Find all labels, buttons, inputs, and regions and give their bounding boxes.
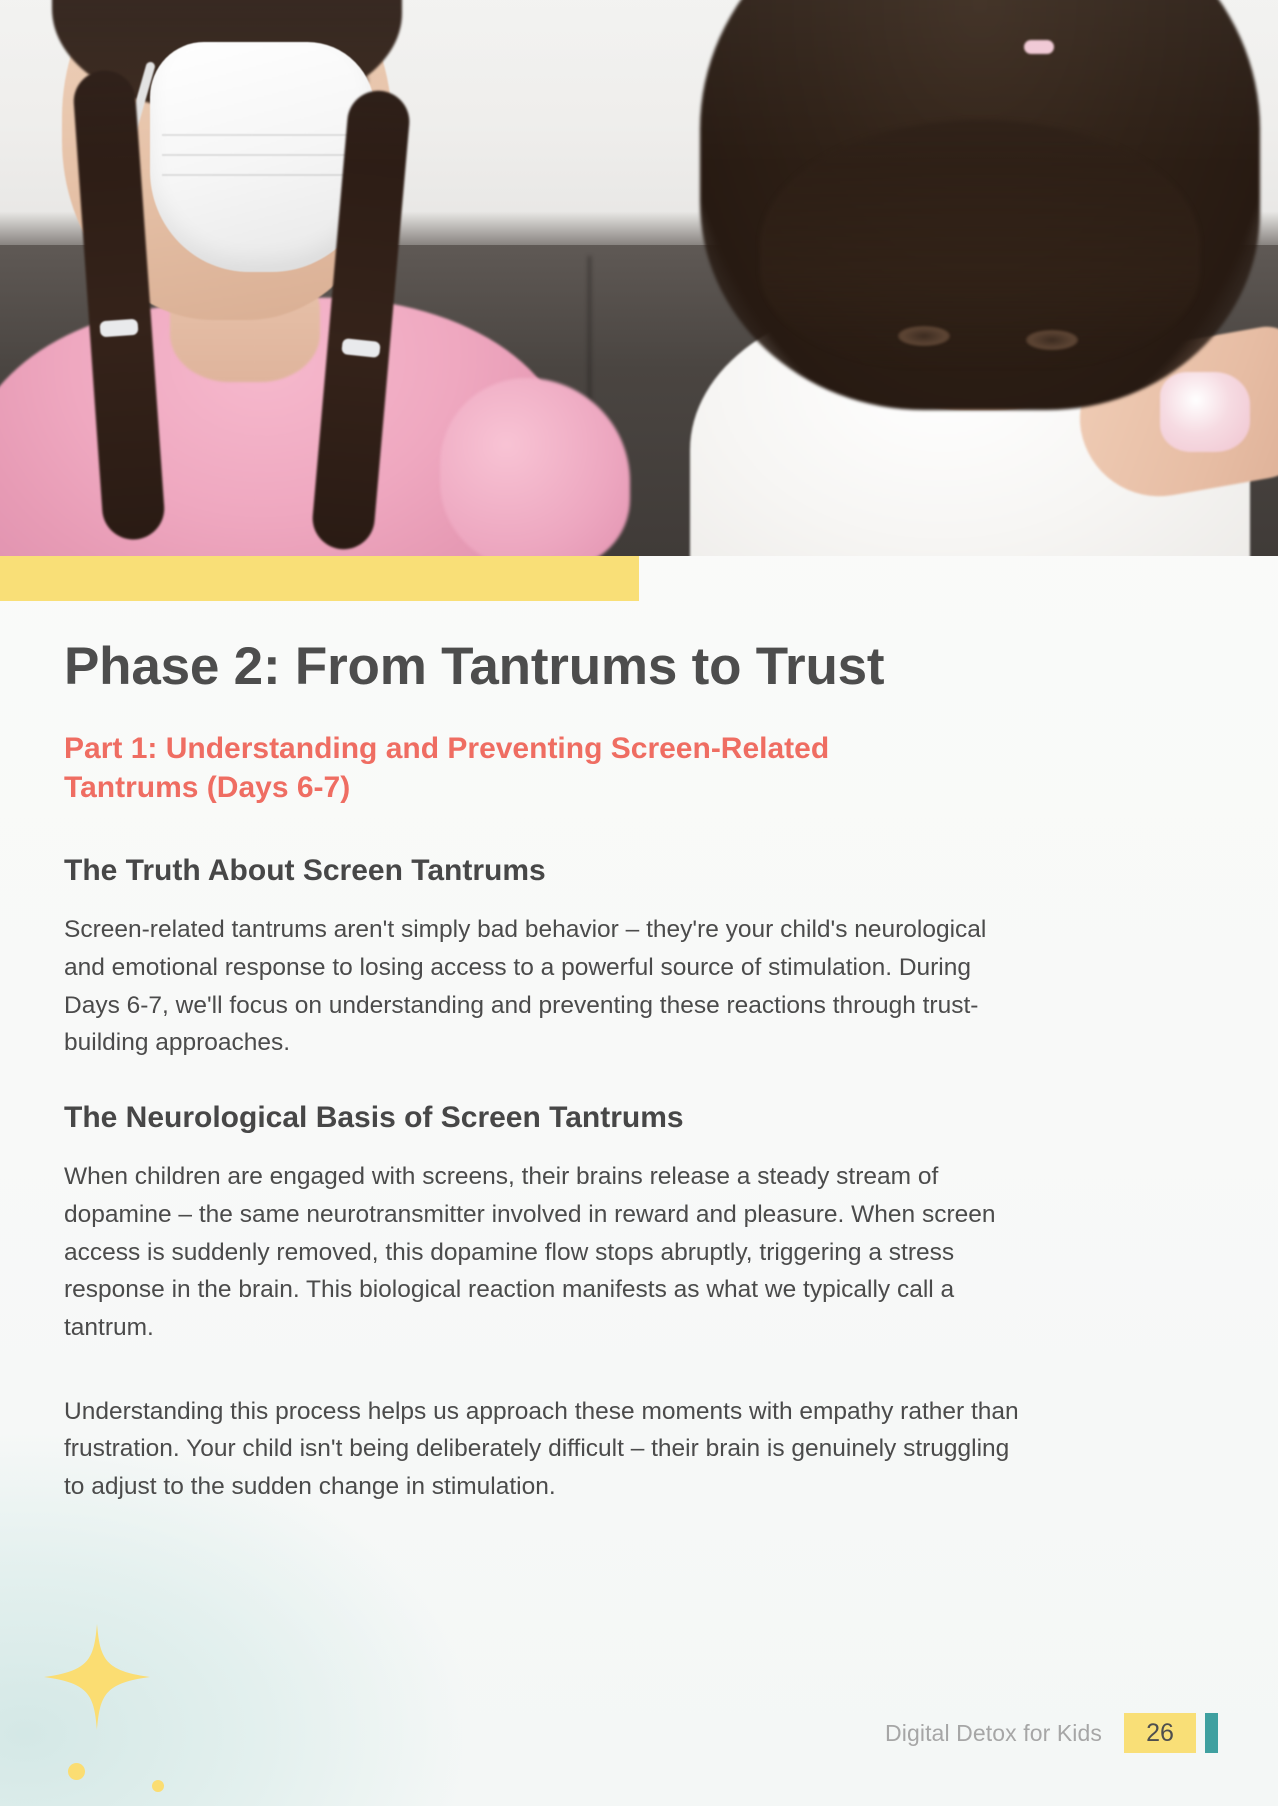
yellow-accent-bar <box>0 556 639 601</box>
hero-photo <box>0 0 1278 556</box>
hair-tie <box>1024 40 1054 54</box>
paragraph-neuro-2: Understanding this process helps us appr… <box>64 1393 1024 1506</box>
page-title: Phase 2: From Tantrums to Trust <box>64 638 1064 695</box>
document-page: Phase 2: From Tantrums to Trust Part 1: … <box>0 0 1278 1806</box>
page-content: Phase 2: From Tantrums to Trust Part 1: … <box>64 638 1064 1506</box>
paragraph-neuro-1: When children are engaged with screens, … <box>64 1158 1024 1347</box>
footer-teal-tick <box>1205 1713 1218 1753</box>
decorative-dot-2 <box>152 1780 164 1792</box>
pink-toy <box>1160 372 1250 452</box>
section-subtitle: Part 1: Understanding and Preventing Scr… <box>64 729 954 807</box>
right-child-eye-2 <box>1026 330 1078 350</box>
footer-book-title: Digital Detox for Kids <box>885 1720 1102 1747</box>
page-number-badge: 26 <box>1124 1713 1196 1753</box>
paragraph-truth-1: Screen-related tantrums aren't simply ba… <box>64 911 1024 1062</box>
page-footer: Digital Detox for Kids 26 <box>0 1705 1278 1761</box>
paragraph-spacer <box>64 1347 1064 1393</box>
right-child-bangs <box>760 120 1200 370</box>
right-child-eye-1 <box>898 326 950 346</box>
section-heading-truth: The Truth About Screen Tantrums <box>64 853 1064 889</box>
braid-tie-1 <box>99 319 138 338</box>
decorative-dot-1 <box>68 1763 85 1780</box>
section-heading-neurological: The Neurological Basis of Screen Tantrum… <box>64 1100 1064 1136</box>
